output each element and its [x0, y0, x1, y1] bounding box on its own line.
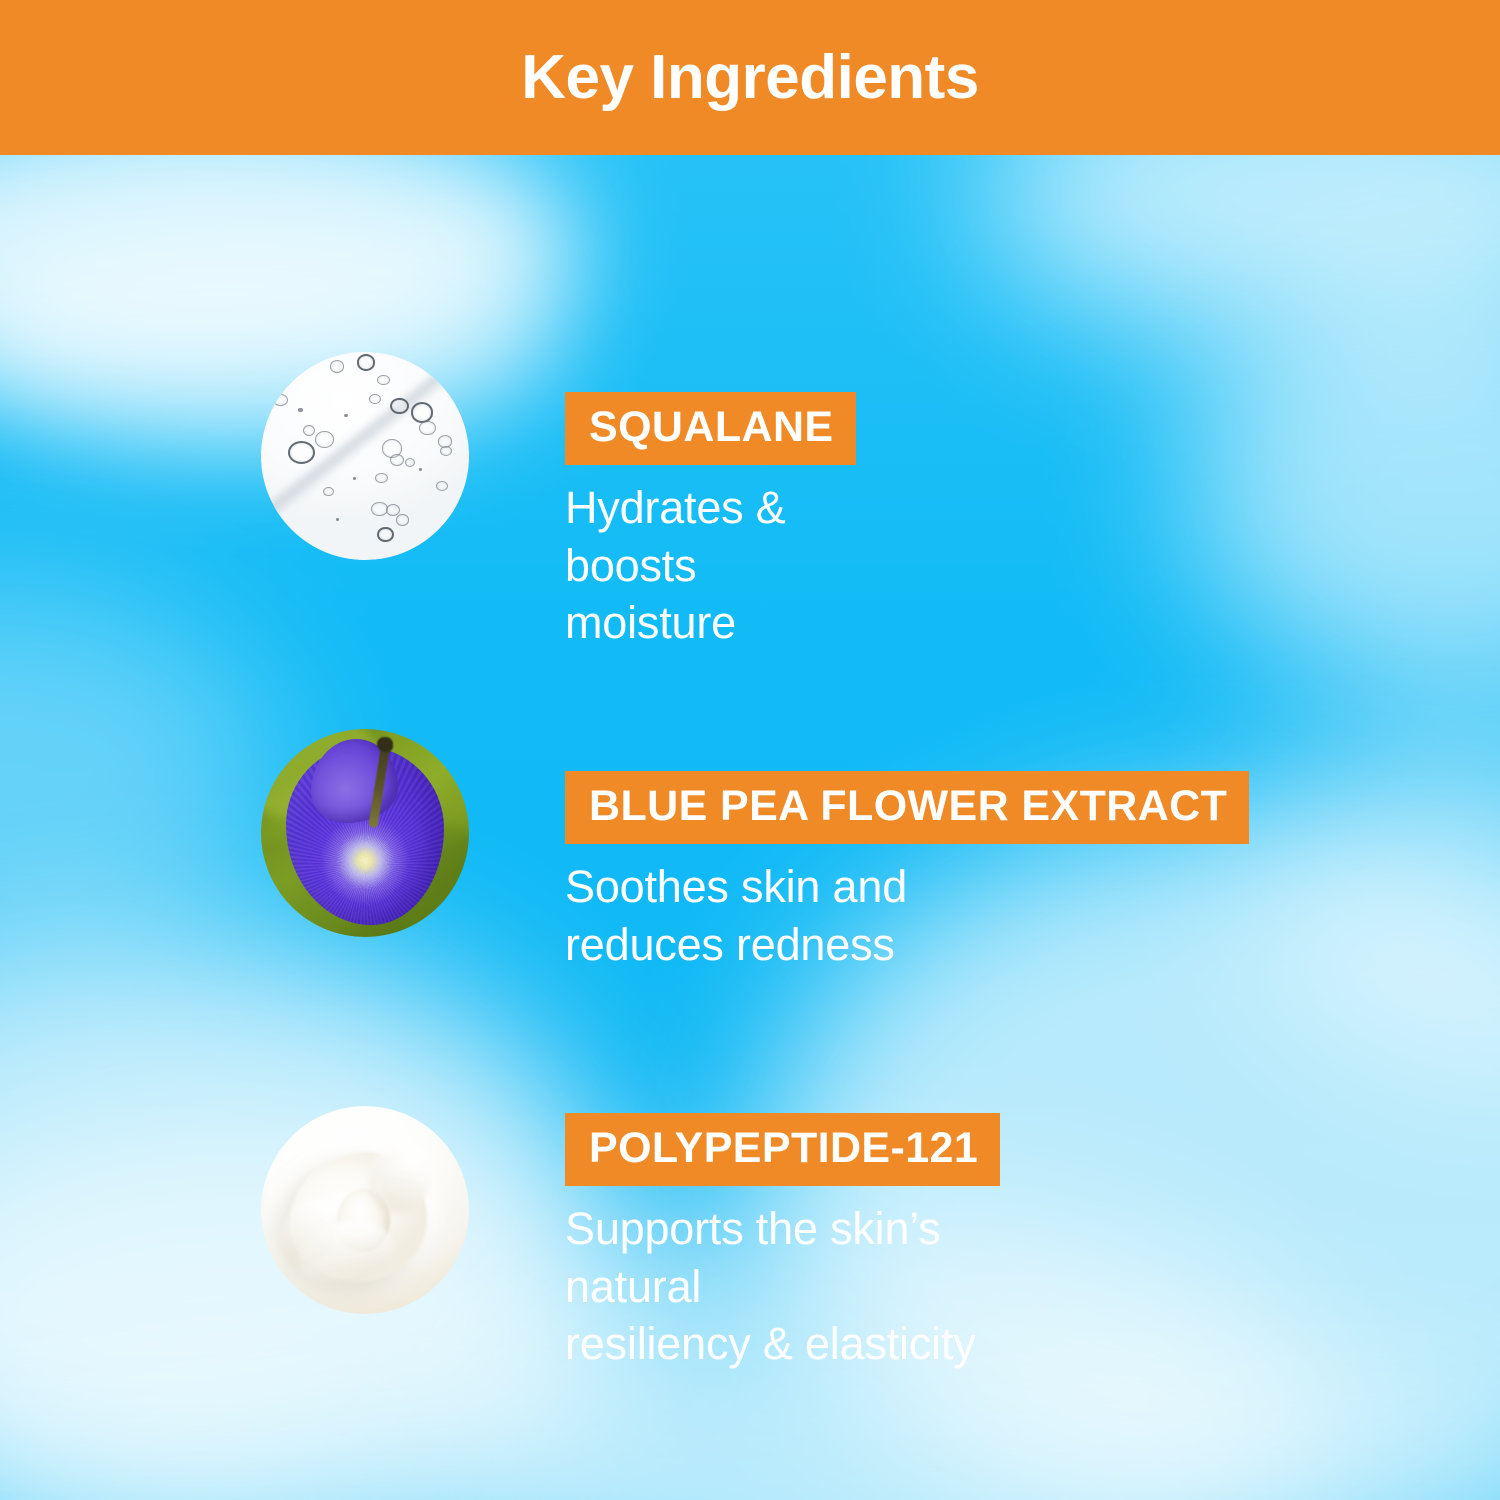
- clear-gel-bubbles-swatch-image: [261, 352, 469, 560]
- gel-bubble: [288, 441, 315, 464]
- gel-bubble: [330, 360, 344, 372]
- gel-bubble: [419, 421, 436, 435]
- polypeptide-thumbnail: [261, 1106, 469, 1314]
- gel-bubble: [377, 375, 389, 385]
- ingredient-description: Supports the skin’s natural resiliency &…: [565, 1200, 1000, 1373]
- gel-bubble: [303, 425, 315, 436]
- squalane-thumbnail: [261, 352, 469, 560]
- blue-pea-flower-photo-image: [261, 729, 469, 937]
- gel-bubble: [375, 473, 387, 483]
- gel-bubble: [315, 431, 334, 448]
- gel-bubble: [396, 514, 408, 525]
- gel-bubble: [411, 402, 434, 423]
- gel-speck: [344, 414, 347, 417]
- ingredient-name-badge: BLUE PEA FLOWER EXTRACT: [565, 771, 1249, 844]
- cloud-right-mid: [1260, 715, 1500, 1075]
- ingredient-description: Soothes skin and reduces redness: [565, 858, 1249, 973]
- cloud-top-right: [980, 155, 1500, 345]
- gel-bubble: [390, 398, 409, 414]
- gel-bubble: [369, 394, 380, 404]
- gel-bubble: [440, 446, 452, 456]
- gel-bubble: [273, 394, 287, 406]
- ingredient-name-badge: SQUALANE: [565, 392, 856, 465]
- flower-stem-tip: [377, 737, 393, 752]
- cloud-right-upper: [1190, 275, 1500, 695]
- squalane-text-column: SQUALANE Hydrates & boosts moisture: [565, 392, 856, 652]
- header-bar: Key Ingredients: [0, 0, 1500, 155]
- ingredient-name-badge: POLYPEPTIDE-121: [565, 1113, 1000, 1186]
- gel-bubble: [357, 354, 376, 370]
- white-cream-swatch-image: [261, 1106, 469, 1314]
- polypeptide-text-column: POLYPEPTIDE-121 Supports the skin’s natu…: [565, 1113, 1000, 1373]
- gel-bubble: [377, 527, 393, 542]
- page-title: Key Ingredients: [521, 47, 979, 109]
- cloud-left-mid: [0, 585, 280, 965]
- ingredient-description: Hydrates & boosts moisture: [565, 479, 856, 652]
- blue-pea-flower-thumbnail: [261, 729, 469, 937]
- blue-pea-flower-text-column: BLUE PEA FLOWER EXTRACT Soothes skin and…: [565, 771, 1249, 973]
- gel-speck: [298, 408, 302, 412]
- key-ingredients-poster: Key Ingredients: [0, 0, 1500, 1500]
